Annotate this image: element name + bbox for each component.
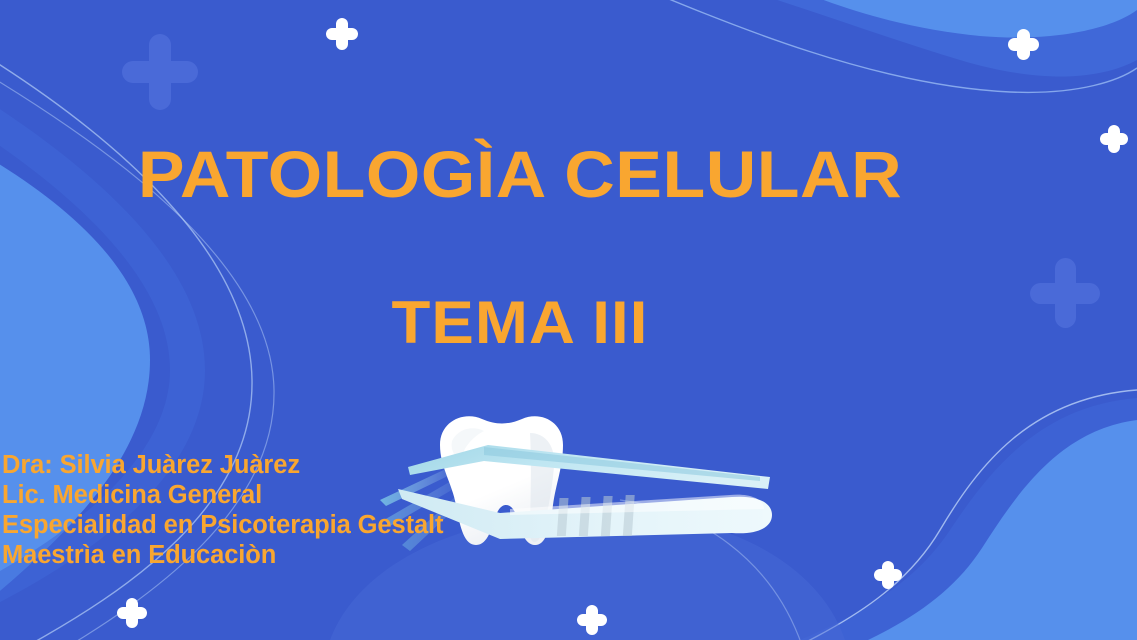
credential-line-4: Maestrìa en Educaciòn	[2, 540, 443, 570]
plus-icon-white-bottom-left	[117, 598, 147, 628]
credential-line-1: Dra: Silvia Juàrez Juàrez	[2, 450, 443, 480]
presenter-credentials: Dra: Silvia Juàrez Juàrez Lic. Medicina …	[2, 450, 443, 570]
credential-line-2: Lic. Medicina General	[2, 480, 443, 510]
plus-icon-soft-top-left	[122, 34, 198, 110]
credential-line-3: Especialidad en Psicoterapia Gestalt	[2, 510, 443, 540]
plus-icon-white-top-right	[1008, 29, 1039, 60]
slide-subtitle: TEMA III	[0, 288, 1071, 357]
plus-icon-white-right	[1100, 125, 1128, 153]
plus-icon-white-top-center	[326, 18, 358, 50]
slide-title: PATOLOGÌA CELULAR	[0, 140, 1071, 209]
plus-icon-white-bottom-center	[577, 605, 607, 635]
plus-icon-white-bottom-right	[874, 561, 902, 589]
presentation-slide: PATOLOGÌA CELULAR TEMA III Dra: Silvia J…	[0, 0, 1137, 640]
